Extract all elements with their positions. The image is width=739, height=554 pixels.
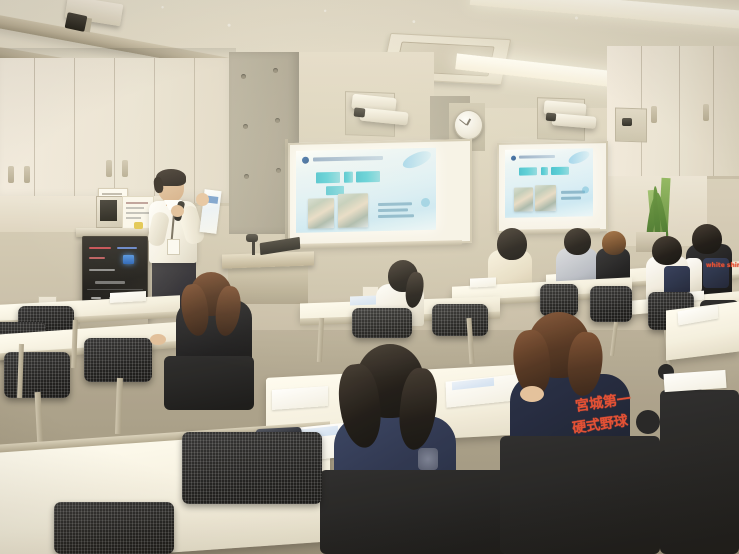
slide-image bbox=[535, 185, 556, 211]
presenter-name-badge bbox=[167, 239, 180, 255]
student-hand bbox=[520, 386, 544, 402]
chair[interactable] bbox=[182, 432, 322, 504]
slide-body-text bbox=[378, 208, 408, 212]
rack-led bbox=[95, 281, 125, 284]
cabinet-seam bbox=[713, 46, 714, 176]
chair-armrest bbox=[636, 410, 660, 434]
slide-body-text bbox=[378, 214, 414, 218]
desk-microphone bbox=[246, 234, 258, 242]
student-far-right-b-head bbox=[652, 236, 682, 265]
student-mid-gray-head bbox=[564, 228, 591, 255]
pillar-tie-hole bbox=[243, 124, 248, 129]
chair[interactable] bbox=[352, 308, 412, 338]
student-back-left-head bbox=[602, 231, 626, 255]
rack-led bbox=[117, 247, 137, 249]
rack-divider bbox=[87, 289, 143, 290]
notice-line bbox=[126, 202, 148, 204]
handout-paper bbox=[110, 291, 146, 303]
chair[interactable] bbox=[500, 436, 660, 554]
cabinet-seam bbox=[74, 58, 75, 203]
slide-body-text bbox=[378, 202, 412, 206]
presenter-hand-left bbox=[196, 193, 209, 206]
notice-line bbox=[102, 193, 122, 195]
pillar-tie-hole bbox=[273, 68, 278, 73]
slide-swoosh-graphic bbox=[401, 148, 434, 172]
wall-projector-left-lens bbox=[354, 107, 366, 117]
slide-bullet-icon bbox=[582, 186, 589, 193]
right-slide bbox=[505, 148, 593, 218]
handout-paper bbox=[350, 296, 376, 306]
control-monitor-screen[interactable] bbox=[100, 200, 117, 221]
notice-line bbox=[126, 217, 141, 219]
wall-clock-icon bbox=[454, 110, 483, 140]
chair[interactable] bbox=[84, 338, 152, 382]
slide-bullet-icon bbox=[421, 198, 430, 207]
student-front-left-hand bbox=[150, 334, 166, 345]
chair[interactable] bbox=[590, 286, 632, 322]
slide-logo-icon bbox=[302, 157, 309, 164]
rack-led bbox=[89, 257, 105, 259]
slide-title-block bbox=[356, 171, 380, 183]
presenter-hand-right bbox=[171, 205, 184, 217]
cabinet-left bbox=[0, 58, 231, 206]
wall-projector-right-lens bbox=[546, 113, 557, 122]
cabinet-handle[interactable] bbox=[651, 106, 657, 123]
student-far-right-a-head bbox=[692, 224, 722, 254]
student-mid-cream-head bbox=[497, 228, 527, 260]
slide-title-block bbox=[541, 167, 548, 175]
chair[interactable] bbox=[660, 390, 739, 554]
cabinet-seam bbox=[679, 46, 680, 176]
slide-title-block bbox=[316, 172, 340, 184]
chair[interactable] bbox=[320, 470, 510, 554]
rack-led bbox=[89, 269, 115, 271]
sweatshirt-emblem bbox=[418, 448, 438, 470]
slide-image bbox=[338, 193, 368, 228]
chair[interactable] bbox=[432, 304, 488, 336]
cabinet-handle[interactable] bbox=[122, 160, 128, 177]
cabinet-handle[interactable] bbox=[8, 166, 14, 183]
rack-indicator bbox=[123, 255, 134, 264]
left-slide bbox=[296, 148, 436, 233]
notice-line bbox=[126, 207, 144, 209]
slide-title-block bbox=[551, 167, 569, 175]
cabinet-seam bbox=[194, 58, 195, 203]
pillar-tie-hole bbox=[241, 74, 246, 79]
chair[interactable] bbox=[54, 502, 174, 554]
wall-projector-far-lens bbox=[622, 118, 632, 126]
slide-logo-icon bbox=[511, 156, 516, 161]
slide-title-block bbox=[519, 167, 537, 175]
pillar-tie-hole bbox=[275, 118, 280, 123]
pillar-tie-hole bbox=[244, 174, 249, 179]
pillar-tie-hole bbox=[276, 168, 281, 173]
slide-title-block bbox=[344, 172, 353, 183]
right-projection-screen bbox=[497, 141, 608, 233]
yellow-sticker bbox=[134, 222, 143, 229]
rack-led bbox=[89, 247, 111, 249]
vest-text: white shirt with navy vest bbox=[706, 262, 739, 269]
chair[interactable] bbox=[164, 356, 254, 410]
slide-header-text bbox=[313, 156, 383, 162]
slide-image bbox=[514, 187, 533, 211]
handout-paper bbox=[272, 386, 328, 410]
slide-body-text bbox=[561, 197, 581, 200]
cabinet-seam bbox=[114, 58, 115, 203]
notice-line bbox=[126, 212, 149, 214]
handout-paper bbox=[470, 277, 496, 287]
cabinet-seam bbox=[34, 58, 35, 203]
cabinet-handle[interactable] bbox=[703, 104, 709, 121]
slide-swoosh-graphic bbox=[567, 149, 591, 167]
cabinet-handle[interactable] bbox=[106, 160, 112, 177]
slide-header-text bbox=[519, 155, 555, 159]
slide-image bbox=[308, 198, 334, 229]
left-projection-screen bbox=[288, 139, 472, 247]
classroom-photo: white shirt with navy vest bbox=[0, 0, 739, 554]
cabinet-handle[interactable] bbox=[24, 166, 30, 183]
